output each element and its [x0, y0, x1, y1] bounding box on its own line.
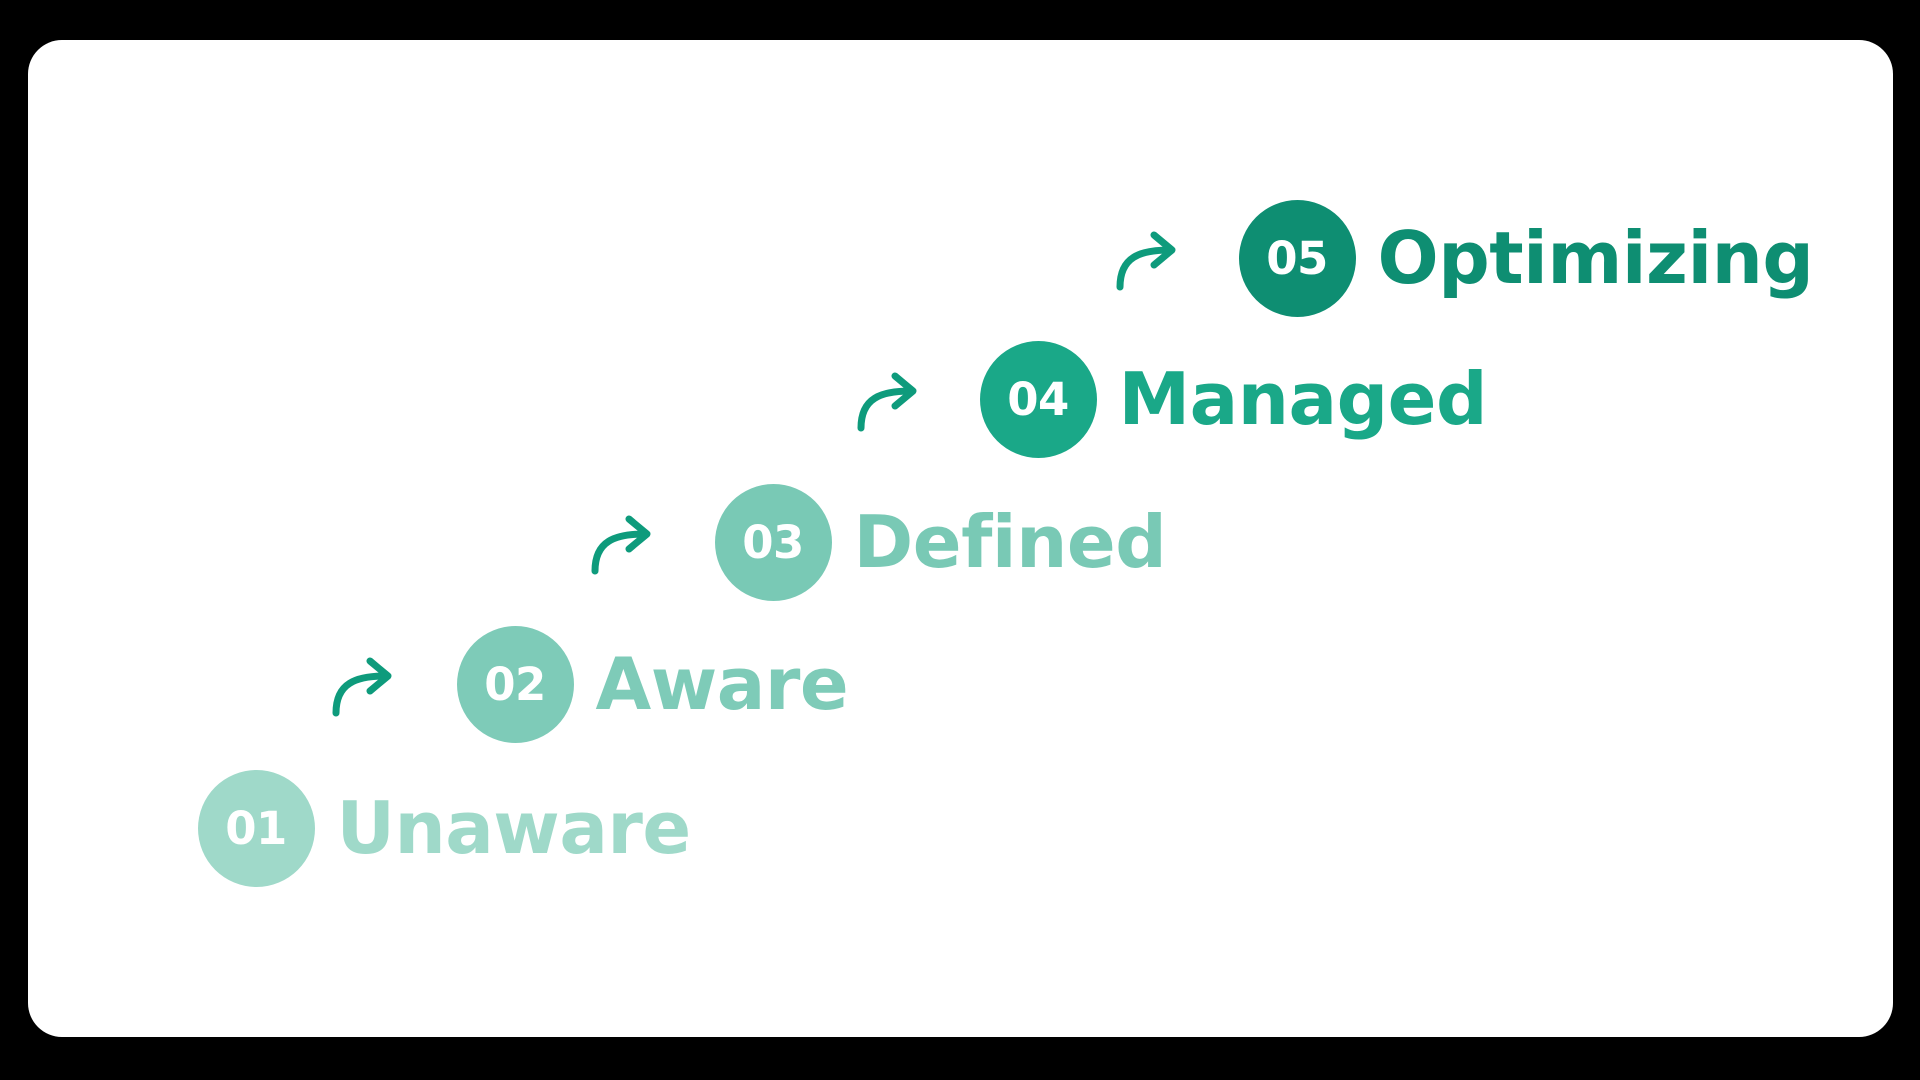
curved-forward-arrow-icon [855, 371, 927, 433]
maturity-step-01[interactable]: 01Unaware [198, 768, 691, 888]
maturity-step-05[interactable]: 05Optimizing [1239, 198, 1814, 318]
step-badge-04[interactable]: 04 [980, 341, 1097, 458]
step-number: 05 [1266, 236, 1328, 281]
step-label: Unaware [337, 792, 691, 864]
curved-forward-arrow-icon [1114, 230, 1186, 292]
step-badge-03[interactable]: 03 [715, 484, 832, 601]
curved-forward-arrow-icon [589, 514, 661, 576]
step-label: Aware [596, 648, 849, 720]
diagram-canvas: 01Unaware02Aware03Defined04Managed05Opti… [0, 0, 1920, 1080]
step-label: Defined [854, 506, 1167, 578]
diagram-card: 01Unaware02Aware03Defined04Managed05Opti… [28, 40, 1893, 1037]
step-number: 03 [742, 520, 804, 565]
step-label: Managed [1119, 363, 1488, 435]
maturity-step-02[interactable]: 02Aware [457, 624, 849, 744]
step-number: 04 [1007, 377, 1069, 422]
step-number: 01 [225, 806, 287, 851]
step-number: 02 [484, 662, 546, 707]
curved-forward-arrow-icon [330, 656, 402, 718]
maturity-step-04[interactable]: 04Managed [980, 339, 1488, 459]
step-badge-05[interactable]: 05 [1239, 200, 1356, 317]
step-badge-02[interactable]: 02 [457, 626, 574, 743]
maturity-step-03[interactable]: 03Defined [715, 482, 1167, 602]
step-badge-01[interactable]: 01 [198, 770, 315, 887]
step-label: Optimizing [1378, 222, 1814, 294]
